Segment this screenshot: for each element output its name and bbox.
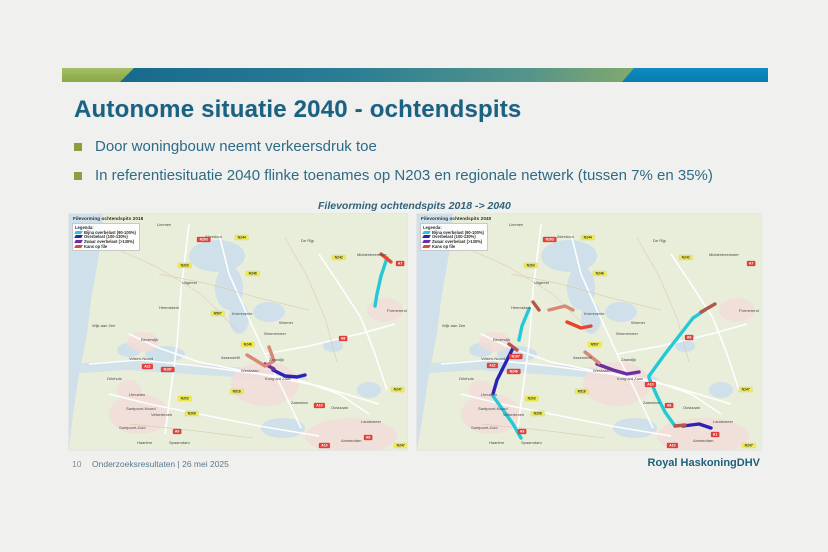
road-shield-n516: N516 [575, 389, 588, 394]
svg-text:N246: N246 [510, 370, 518, 374]
map-place-label: Landsmeer [713, 419, 734, 424]
map-place-label: Zaandam [643, 400, 661, 405]
map-place-label: Velserbroek [151, 412, 172, 417]
map-place-label: Limmen [509, 222, 523, 227]
map-figure-2040[interactable]: Filevorming ochtendspits 2040 Legenda: B… [417, 214, 761, 450]
map-place-label: Wormer [631, 320, 646, 325]
map-place-label: Heemskerk [159, 305, 179, 310]
svg-text:A7: A7 [749, 262, 753, 266]
congestion-line-kans-op-file [533, 302, 539, 310]
map-place-label: Koog a/d Zaan [617, 376, 643, 381]
svg-text:N203: N203 [181, 264, 189, 268]
svg-text:A8: A8 [667, 404, 671, 408]
svg-text:A10: A10 [647, 383, 653, 387]
slide-number: 10 [72, 459, 81, 469]
road-shield-n507: N507 [211, 311, 224, 316]
svg-text:N244: N244 [584, 236, 592, 240]
map-overlay-2040: LimmenAkerslootDe RijpMiddenbeemsterUitg… [417, 214, 761, 450]
congestion-line-kans-op-file [701, 304, 715, 312]
svg-text:N516: N516 [578, 390, 586, 394]
map-place-label: Wormer [279, 320, 294, 325]
road-shield-a22: A22 [142, 364, 153, 369]
map-place-label: IJmuiden [481, 392, 497, 397]
svg-text:A9: A9 [520, 430, 524, 434]
map-place-label: Beverwijk [493, 337, 510, 342]
svg-text:N203: N203 [528, 397, 536, 401]
map-place-label: Uitgeest [534, 280, 550, 285]
map-place-label: Haarlem [137, 440, 153, 445]
map-place-label: Oostzaan [331, 405, 348, 410]
road-shield-a8: A8 [685, 335, 693, 340]
road-shield-n197: N197 [161, 367, 174, 372]
road-shield-a9: A9 [518, 429, 526, 434]
road-shield-a1: A1 [711, 432, 719, 437]
map-place-label: Heemskerk [511, 305, 531, 310]
svg-text:N507: N507 [591, 343, 599, 347]
road-shield-a10: A10 [645, 382, 656, 387]
map-place-label: Santpoort-Zuid [471, 425, 497, 430]
bullet-square-icon [74, 172, 82, 180]
svg-text:A22: A22 [144, 365, 150, 369]
svg-text:N197: N197 [512, 355, 520, 359]
road-shield-n247: N247 [394, 443, 407, 448]
map-place-label: De Rijp [301, 238, 315, 243]
svg-text:N246: N246 [249, 272, 257, 276]
svg-text:N247: N247 [397, 444, 405, 448]
road-shield-n507: N507 [588, 342, 601, 347]
congestion-line-kans-op-file [675, 425, 685, 426]
map-place-label: Amsterdam [341, 438, 362, 443]
company-logo: Royal HaskoningDHV [648, 457, 760, 469]
map-place-label: Zaandijk [269, 357, 284, 362]
map-place-label: Driehuis [459, 376, 474, 381]
map-place-label: Driehuis [107, 376, 122, 381]
svg-text:A1: A1 [713, 433, 717, 437]
road-shield-n246: N246 [241, 342, 254, 347]
map-place-label: Spaarndam [521, 440, 542, 445]
map-place-label: Middenbeemster [709, 252, 739, 257]
road-shield-n242: N242 [332, 255, 345, 260]
map-place-label: Middenbeemster [357, 252, 387, 257]
svg-text:N516: N516 [233, 390, 241, 394]
map-place-label: Uitgeest [182, 280, 198, 285]
road-shield-n203: N203 [178, 396, 191, 401]
map-place-label: Oostzaan [683, 405, 700, 410]
svg-text:N203: N203 [181, 397, 189, 401]
map-place-label: Purmerend [387, 308, 407, 313]
road-shield-a9: A9 [173, 429, 181, 434]
bullet-list: Door woningbouw neemt verkeersdruk toe I… [74, 137, 774, 195]
road-shield-a7: A7 [396, 261, 404, 266]
map-place-label: Landsmeer [361, 419, 382, 424]
bullet-text: Door woningbouw neemt verkeersdruk toe [95, 137, 377, 156]
svg-text:N208: N208 [534, 412, 542, 416]
bullet-text: In referentiesituatie 2040 flinke toenam… [95, 166, 713, 185]
svg-text:A10: A10 [316, 404, 322, 408]
map-place-label: Velsen-Noord [481, 356, 505, 361]
svg-text:N203: N203 [200, 238, 208, 242]
congestion-line-kans-op-file [549, 306, 573, 310]
svg-text:N242: N242 [335, 256, 343, 260]
road-shield-n247: N247 [742, 443, 755, 448]
presentation-slide: Autonome situatie 2040 - ochtendspits Do… [0, 0, 828, 552]
map-place-label: Zaandam [291, 400, 309, 405]
map-place-label: Assendelft [573, 355, 593, 360]
svg-text:N246: N246 [596, 272, 604, 276]
road-shield-n247: N247 [391, 387, 404, 392]
road-shield-n244: N244 [235, 235, 248, 240]
map-place-label: IJmuiden [129, 392, 145, 397]
map-place-label: Krommenie [232, 311, 253, 316]
svg-text:A9: A9 [175, 430, 179, 434]
map-place-label: Limmen [157, 222, 171, 227]
map-place-label: Velserbroek [503, 412, 524, 417]
congestion-line-bijna-overbelast [493, 396, 521, 438]
svg-text:N247: N247 [394, 388, 402, 392]
road-shield-n247: N247 [739, 387, 752, 392]
congestion-line-bijna-overbelast [649, 310, 705, 376]
svg-text:N203: N203 [546, 238, 554, 242]
road-shield-n203: N203 [524, 263, 537, 268]
road-shield-n197: N197 [509, 354, 522, 359]
map-overlay-2018: LimmenAkerslootDe RijpMiddenbeemsterUitg… [69, 214, 407, 450]
svg-text:A7: A7 [398, 262, 402, 266]
road-shield-n203: N203 [525, 396, 538, 401]
svg-text:N507: N507 [214, 312, 222, 316]
band-segment-blue [622, 68, 768, 82]
svg-text:N247: N247 [742, 388, 750, 392]
list-item: Door woningbouw neemt verkeersdruk toe [74, 137, 774, 156]
map-place-label: Wijk aan Zee [442, 323, 466, 328]
svg-text:N208: N208 [188, 412, 196, 416]
list-item: In referentiesituatie 2040 flinke toenam… [74, 166, 774, 185]
svg-text:N242: N242 [682, 256, 690, 260]
road-shield-n208: N208 [531, 411, 544, 416]
road-shield-a7: A7 [747, 261, 755, 266]
congestion-line-overbelast [683, 424, 711, 428]
map-place-label: Assendelft [221, 355, 241, 360]
map-place-label: Wormerveer [264, 331, 287, 336]
map-place-label: Santpoort-Noord [126, 406, 156, 411]
map-place-label: Westzaan [593, 368, 611, 373]
svg-text:A22: A22 [489, 364, 495, 368]
map-place-label: Beverwijk [141, 337, 158, 342]
svg-text:N244: N244 [238, 236, 246, 240]
road-shield-n242: N242 [679, 255, 692, 260]
road-shield-a22: A22 [487, 363, 498, 368]
svg-text:A10: A10 [669, 444, 675, 448]
road-shield-n208: N208 [185, 411, 198, 416]
road-shield-a10: A10 [667, 443, 678, 448]
congestion-line-kans-op-file [509, 344, 517, 350]
road-shield-a8: A8 [364, 435, 372, 440]
page-title: Autonome situatie 2040 - ochtendspits [74, 96, 521, 124]
map-figure-2018[interactable]: Filevorming ochtendspits 2018 Legenda: B… [69, 214, 407, 450]
map-place-label: Koog a/d Zaan [265, 376, 291, 381]
road-shield-n516: N516 [230, 389, 243, 394]
map-place-label: Velsen-Noord [129, 356, 153, 361]
figure-caption: Filevorming ochtendspits 2018 -> 2040 [318, 200, 511, 212]
map-place-label: Haarlem [489, 440, 505, 445]
bullet-square-icon [74, 143, 82, 151]
road-shield-n203: N203 [543, 237, 556, 242]
road-shield-n203: N203 [178, 263, 191, 268]
svg-text:N247: N247 [745, 444, 753, 448]
road-shield-a8: A8 [665, 403, 673, 408]
congestion-line-bijna-overbelast [375, 258, 387, 306]
road-shield-a10: A10 [314, 403, 325, 408]
road-shield-a8: A8 [339, 336, 347, 341]
map-place-label: Westzaan [241, 368, 259, 373]
band-segment-teal [120, 68, 688, 82]
congestion-line-kans-op-file [567, 322, 591, 328]
map-place-label: De Rijp [653, 238, 667, 243]
svg-text:N203: N203 [527, 264, 535, 268]
map-place-label: Santpoort-Zuid [119, 425, 145, 430]
svg-text:N246: N246 [244, 343, 252, 347]
map-place-label: Akersloot [557, 234, 575, 239]
road-shield-n246: N246 [593, 271, 606, 276]
svg-text:N197: N197 [164, 368, 172, 372]
road-shield-n203: N203 [197, 237, 210, 242]
map-place-label: Wormerveer [616, 331, 639, 336]
road-shield-a10: A10 [319, 443, 330, 448]
map-place-label: Wijk aan Zee [92, 323, 116, 328]
svg-text:A8: A8 [687, 336, 691, 340]
svg-text:A8: A8 [341, 337, 345, 341]
map-place-label: Krommenie [584, 311, 605, 316]
road-shield-n246: N246 [507, 369, 520, 374]
road-shield-n246: N246 [246, 271, 259, 276]
map-place-label: Spaarndam [169, 440, 190, 445]
svg-text:A10: A10 [321, 444, 327, 448]
map-place-label: Zaandijk [621, 357, 636, 362]
header-accent-band [62, 68, 768, 82]
map-place-label: Amsterdam [693, 438, 714, 443]
congestion-line-bijna-overbelast [519, 309, 529, 340]
map-place-label: Santpoort-Noord [478, 406, 508, 411]
road-shield-n244: N244 [581, 235, 594, 240]
svg-text:A8: A8 [366, 436, 370, 440]
footer-text: Onderzoeksresultaten | 26 mei 2025 [92, 459, 229, 469]
map-place-label: Purmerend [739, 308, 759, 313]
